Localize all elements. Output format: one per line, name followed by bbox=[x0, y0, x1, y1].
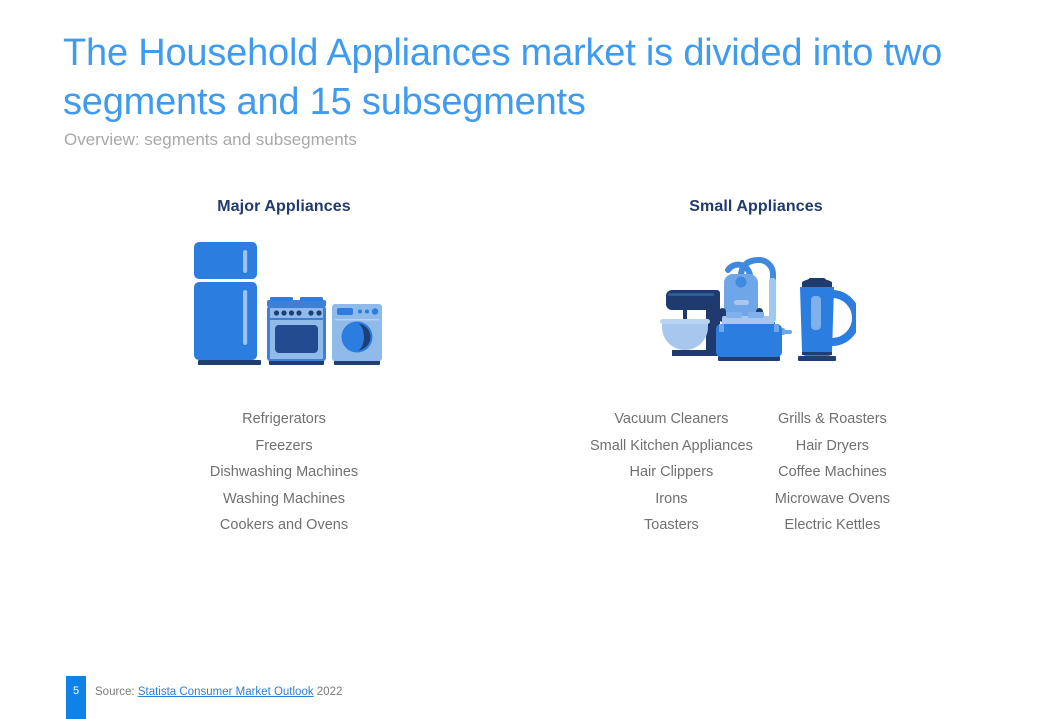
page-title: The Household Appliances market is divid… bbox=[63, 29, 963, 127]
subsegment-list-small-a: Vacuum Cleaners Small Kitchen Appliances… bbox=[590, 406, 753, 539]
major-appliance-icon-group bbox=[184, 238, 384, 368]
subsegment-list-small-b: Grills & Roasters Hair Dryers Coffee Mac… bbox=[753, 406, 912, 539]
list-item: Hair Dryers bbox=[753, 433, 912, 460]
stove-oven-icon bbox=[267, 297, 326, 365]
list-item: Irons bbox=[590, 486, 753, 513]
list-item: Electric Kettles bbox=[753, 512, 912, 539]
washing-machine-icon bbox=[332, 304, 382, 365]
list-item: Washing Machines bbox=[128, 486, 440, 513]
list-item: Freezers bbox=[128, 433, 440, 460]
segment-small-appliances: Small Appliances bbox=[600, 198, 912, 539]
major-subsegment-columns: Refrigerators Freezers Dishwashing Machi… bbox=[128, 406, 440, 539]
list-item: Refrigerators bbox=[128, 406, 440, 433]
segment-title-small: Small Appliances bbox=[600, 198, 912, 216]
source-link[interactable]: Statista Consumer Market Outlook bbox=[138, 686, 314, 698]
source-year: 2022 bbox=[314, 686, 343, 698]
slide-canvas: The Household Appliances market is divid… bbox=[0, 0, 1039, 719]
segment-major-appliances: Major Appliances bbox=[128, 198, 440, 539]
list-item: Hair Clippers bbox=[590, 459, 753, 486]
list-item: Toasters bbox=[590, 512, 753, 539]
subsegment-list-major: Refrigerators Freezers Dishwashing Machi… bbox=[128, 406, 440, 539]
list-item: Dishwashing Machines bbox=[128, 459, 440, 486]
refrigerator-icon bbox=[194, 242, 261, 365]
small-subsegment-columns: Vacuum Cleaners Small Kitchen Appliances… bbox=[590, 406, 912, 539]
source-note: Source: Statista Consumer Market Outlook… bbox=[95, 686, 342, 698]
electric-kettle-icon bbox=[798, 278, 856, 361]
page-number-badge: 5 bbox=[66, 676, 86, 719]
small-appliances-illustration bbox=[600, 238, 912, 398]
page-subtitle: Overview: segments and subsegments bbox=[64, 129, 357, 151]
list-item: Small Kitchen Appliances bbox=[590, 433, 753, 460]
list-item: Cookers and Ovens bbox=[128, 512, 440, 539]
segment-title-major: Major Appliances bbox=[128, 198, 440, 216]
list-item: Microwave Ovens bbox=[753, 486, 912, 513]
source-prefix: Source: bbox=[95, 686, 138, 698]
stand-mixer-icon bbox=[660, 290, 720, 356]
toaster-icon bbox=[716, 312, 792, 361]
small-appliance-icon-group bbox=[656, 238, 856, 368]
list-item: Coffee Machines bbox=[753, 459, 912, 486]
major-appliances-illustration bbox=[128, 238, 440, 398]
list-item: Grills & Roasters bbox=[753, 406, 912, 433]
list-item: Vacuum Cleaners bbox=[590, 406, 753, 433]
